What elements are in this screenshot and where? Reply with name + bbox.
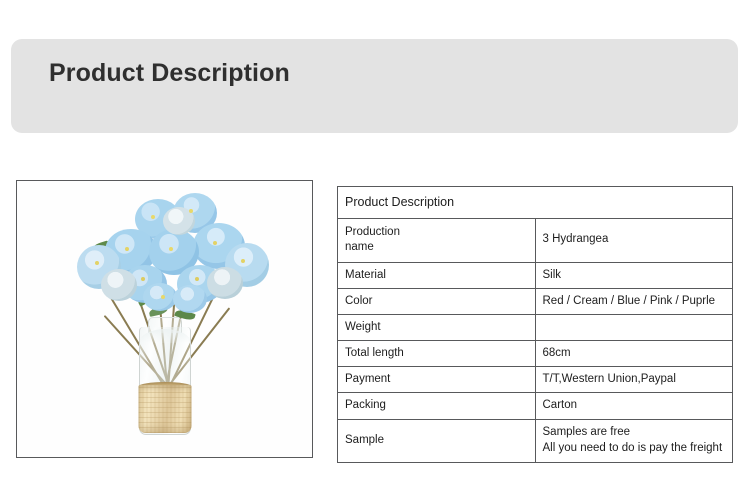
- flower-center: [151, 215, 155, 219]
- spec-label-production-name: Production name: [338, 218, 536, 262]
- spec-value-payment: T/T,Western Union,Paypal: [535, 367, 733, 393]
- spec-value-sample: Samples are free All you need to do is p…: [535, 419, 733, 462]
- table-row: Packing Carton: [338, 393, 733, 419]
- table-header-row: Product Description: [338, 187, 733, 219]
- flower-center: [241, 259, 245, 263]
- flower-center: [95, 261, 99, 265]
- table-row: Total length 68cm: [338, 341, 733, 367]
- product-image: [16, 180, 313, 458]
- table-row: Production name 3 Hydrangea: [338, 218, 733, 262]
- spec-label-color: Color: [338, 288, 536, 314]
- flower-center: [161, 295, 165, 299]
- spec-value-total-length: 68cm: [535, 341, 733, 367]
- flower-center: [141, 277, 145, 281]
- flower-center: [125, 247, 129, 251]
- flower-center: [169, 247, 173, 251]
- spec-value-weight: [535, 314, 733, 340]
- flower-cluster-pale: [207, 267, 243, 299]
- spec-value-material: Silk: [535, 262, 733, 288]
- table-row: Payment T/T,Western Union,Paypal: [338, 367, 733, 393]
- spec-label-material: Material: [338, 262, 536, 288]
- spec-value-color: Red / Cream / Blue / Pink / Puprle: [535, 288, 733, 314]
- flower-cluster-pale: [101, 269, 137, 301]
- spec-label-packing: Packing: [338, 393, 536, 419]
- table-row: Weight: [338, 314, 733, 340]
- spec-value-packing: Carton: [535, 393, 733, 419]
- spec-label-total-length: Total length: [338, 341, 536, 367]
- table-row: Sample Samples are free All you need to …: [338, 419, 733, 462]
- spec-label-payment: Payment: [338, 367, 536, 393]
- spec-value-production-name: 3 Hydrangea: [535, 218, 733, 262]
- flower-cluster: [143, 283, 177, 311]
- product-description-banner: Product Description: [11, 39, 738, 133]
- spec-label-weight: Weight: [338, 314, 536, 340]
- spec-table-body: Product Description Production name 3 Hy…: [338, 187, 733, 463]
- product-photo-canvas: [17, 181, 312, 457]
- table-row: Color Red / Cream / Blue / Pink / Puprle: [338, 288, 733, 314]
- spec-label-sample: Sample: [338, 419, 536, 462]
- spec-table-header: Product Description: [338, 187, 733, 219]
- flower-center: [189, 209, 193, 213]
- flower-cluster: [173, 285, 207, 313]
- table-row: Material Silk: [338, 262, 733, 288]
- flower-center: [213, 241, 217, 245]
- flower-center: [195, 277, 199, 281]
- product-specification-table: Product Description Production name 3 Hy…: [337, 186, 733, 463]
- vase-rattan-base: [138, 385, 191, 433]
- page-title: Product Description: [49, 59, 290, 88]
